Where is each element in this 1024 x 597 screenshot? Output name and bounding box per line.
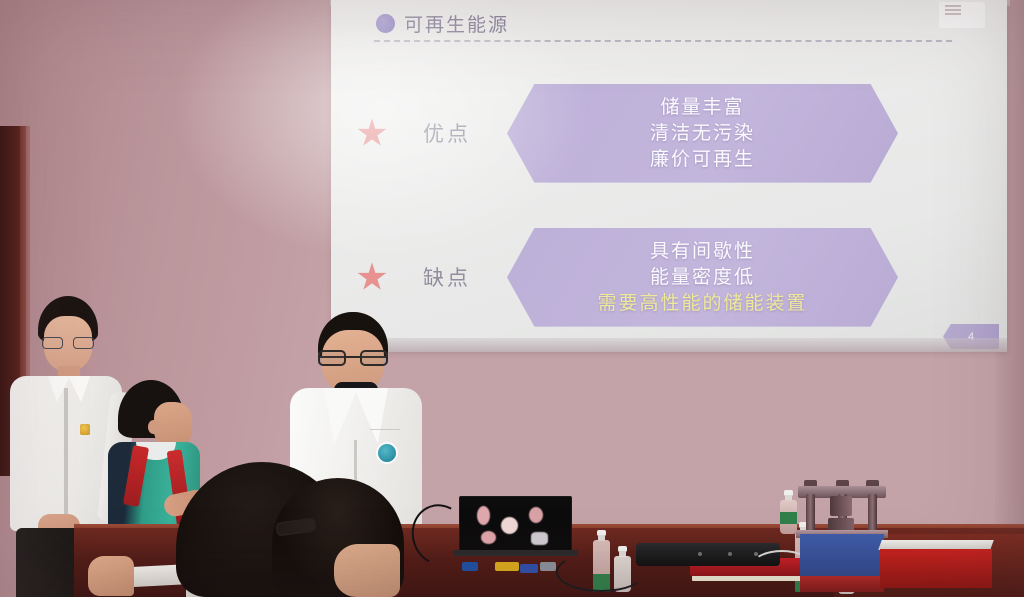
banner-disadvantages: 具有间歇性 能量密度低 需要高性能的储能装置 xyxy=(507,228,898,327)
machine-base xyxy=(800,576,884,592)
slide-title-row: 可再生能源 xyxy=(376,10,509,37)
cable xyxy=(556,552,646,592)
device-led xyxy=(698,552,702,556)
screen-content-blob xyxy=(529,507,543,523)
connector xyxy=(462,562,478,571)
room-photo: 可再生能源 优点 储量丰富 清洁无污染 廉价可再生 缺点 具有间歇性 能量密 xyxy=(0,0,1024,597)
slide-section-disadvantages: 缺点 具有间歇性 能量密度低 需要高性能的储能装置 xyxy=(351,228,898,327)
banner-line: 能量密度低 xyxy=(650,264,755,290)
banner-advantages: 储量丰富 清洁无污染 廉价可再生 xyxy=(507,84,898,183)
audience-glasses xyxy=(276,520,316,548)
banner-line: 清洁无污染 xyxy=(650,120,755,146)
lapel-badge-icon xyxy=(80,424,90,435)
red-equipment-case xyxy=(880,540,992,588)
glasses-icon xyxy=(42,337,94,349)
section-label-advantages: 优点 xyxy=(387,118,507,148)
ear xyxy=(148,420,159,434)
connector xyxy=(520,564,538,573)
chest-pocket xyxy=(370,420,400,430)
institution-logo-icon xyxy=(376,442,398,464)
title-divider xyxy=(374,40,952,42)
hand xyxy=(88,556,134,596)
banner-line: 储量丰富 xyxy=(660,94,744,120)
case-front xyxy=(880,549,992,588)
glasses-icon xyxy=(318,350,388,366)
slide-page-number: 4 xyxy=(943,324,999,349)
slide-title: 可再生能源 xyxy=(404,10,509,37)
shirt-placket xyxy=(64,388,68,528)
star-icon xyxy=(357,118,387,148)
banner-line-highlighted: 需要高性能的储能装置 xyxy=(597,290,807,316)
screen-content-blob xyxy=(531,532,548,545)
slide: 可再生能源 优点 储量丰富 清洁无污染 廉价可再生 缺点 具有间歇性 能量密 xyxy=(331,0,1007,352)
banner-line: 廉价可再生 xyxy=(650,146,755,172)
slide-section-advantages: 优点 储量丰富 清洁无污染 廉价可再生 xyxy=(351,84,898,183)
connector xyxy=(540,562,556,571)
section-label-disadvantages: 缺点 xyxy=(387,262,507,292)
banner-line: 具有间歇性 xyxy=(650,238,755,264)
device-led xyxy=(728,552,732,556)
projection-screen: 可再生能源 优点 储量丰富 清洁无污染 廉价可再生 缺点 具有间歇性 能量密 xyxy=(331,0,1007,352)
screen-content-blob xyxy=(477,506,490,525)
star-icon xyxy=(357,262,387,292)
bullet-icon xyxy=(376,14,395,33)
glasses-icon xyxy=(275,517,317,536)
connector xyxy=(495,562,519,571)
screen-content-blob xyxy=(481,531,496,544)
laptop-base xyxy=(453,550,578,556)
bench-press-apparatus xyxy=(796,472,888,550)
screen-top-marking xyxy=(939,2,985,28)
screen-content-blob xyxy=(501,517,518,534)
laptop xyxy=(459,496,572,552)
press-ram xyxy=(830,496,852,516)
face xyxy=(334,544,400,597)
